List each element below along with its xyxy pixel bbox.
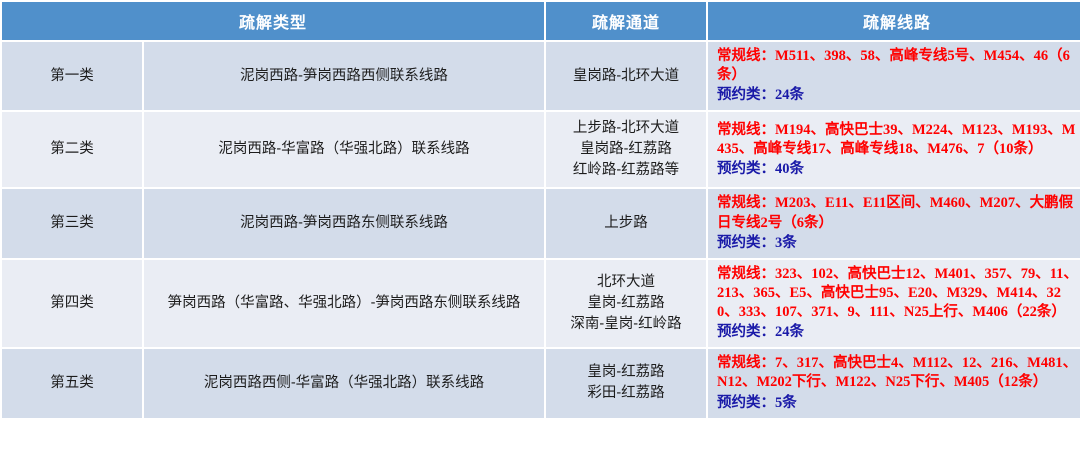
cell-routes: 常规线：7、317、高快巴士4、M112、12、216、M481、N12、M20… xyxy=(708,349,1080,417)
reserve-routes-label: 预约类： xyxy=(717,87,775,103)
regular-routes-line: 常规线：M511、398、58、高峰专线5号、M454、46（6条） xyxy=(717,47,1079,85)
cell-channel: 上步路 xyxy=(546,189,706,257)
channel-line: 皇岗路-红荔路 xyxy=(554,139,698,160)
table-header-row: 疏解类型 疏解通道 疏解线路 xyxy=(2,2,1080,40)
cell-type: 第四类 xyxy=(2,260,142,348)
regular-routes-line: 常规线：M203、E11、E11区间、M460、M207、大鹏假日专线2号（6条… xyxy=(717,194,1079,232)
reserve-routes-label: 预约类： xyxy=(717,161,775,177)
column-header-type: 疏解类型 xyxy=(2,2,544,40)
reserve-routes-value: 24条 xyxy=(775,87,804,103)
column-header-channel: 疏解通道 xyxy=(546,2,706,40)
cell-description: 泥岗西路-笋岗西路东侧联系线路 xyxy=(144,189,544,257)
cell-type: 第五类 xyxy=(2,349,142,417)
cell-type: 第二类 xyxy=(2,112,142,187)
reserve-routes-line: 预约类：3条 xyxy=(717,234,1079,253)
table-row: 第二类泥岗西路-华富路（华强北路）联系线路上步路-北环大道皇岗路-红荔路红岭路-… xyxy=(2,112,1080,187)
reserve-routes-value: 24条 xyxy=(775,324,804,340)
cell-routes: 常规线：323、102、高快巴士12、M401、357、79、11、213、36… xyxy=(708,260,1080,348)
regular-routes-label: 常规线： xyxy=(717,355,775,371)
cell-description: 泥岗西路西侧-华富路（华强北路）联系线路 xyxy=(144,349,544,417)
channel-line: 深南-皇岗-红岭路 xyxy=(554,314,698,335)
reserve-routes-value: 5条 xyxy=(775,395,797,411)
table-body: 第一类泥岗西路-笋岗西路西侧联系线路皇岗路-北环大道常规线：M511、398、5… xyxy=(2,42,1080,418)
reserve-routes-value: 40条 xyxy=(775,161,804,177)
cell-routes: 常规线：M194、高快巴士39、M224、M123、M193、M435、高峰专线… xyxy=(708,112,1080,187)
cell-type: 第一类 xyxy=(2,42,142,110)
channel-line: 上步路 xyxy=(554,213,698,234)
table-row: 第一类泥岗西路-笋岗西路西侧联系线路皇岗路-北环大道常规线：M511、398、5… xyxy=(2,42,1080,110)
reserve-routes-line: 预约类：24条 xyxy=(717,86,1079,105)
table-row: 第三类泥岗西路-笋岗西路东侧联系线路上步路常规线：M203、E11、E11区间、… xyxy=(2,189,1080,257)
reserve-routes-line: 预约类：5条 xyxy=(717,394,1079,413)
regular-routes-label: 常规线： xyxy=(717,48,775,64)
regular-routes-line: 常规线：323、102、高快巴士12、M401、357、79、11、213、36… xyxy=(717,265,1079,322)
cell-description: 泥岗西路-笋岗西路西侧联系线路 xyxy=(144,42,544,110)
cell-channel: 上步路-北环大道皇岗路-红荔路红岭路-红荔路等 xyxy=(546,112,706,187)
regular-routes-line: 常规线：M194、高快巴士39、M224、M123、M193、M435、高峰专线… xyxy=(717,121,1079,159)
cell-description: 泥岗西路-华富路（华强北路）联系线路 xyxy=(144,112,544,187)
channel-line: 皇岗-红荔路 xyxy=(554,362,698,383)
evacuation-routes-table: 疏解类型 疏解通道 疏解线路 第一类泥岗西路-笋岗西路西侧联系线路皇岗路-北环大… xyxy=(0,0,1080,420)
cell-channel: 皇岗-红荔路彩田-红荔路 xyxy=(546,349,706,417)
reserve-routes-line: 预约类：24条 xyxy=(717,323,1079,342)
cell-type: 第三类 xyxy=(2,189,142,257)
table-row: 第四类笋岗西路（华富路、华强北路）-笋岗西路东侧联系线路北环大道皇岗-红荔路深南… xyxy=(2,260,1080,348)
cell-routes: 常规线：M511、398、58、高峰专线5号、M454、46（6条）预约类：24… xyxy=(708,42,1080,110)
reserve-routes-label: 预约类： xyxy=(717,235,775,251)
table-row: 第五类泥岗西路西侧-华富路（华强北路）联系线路皇岗-红荔路彩田-红荔路常规线：7… xyxy=(2,349,1080,417)
channel-line: 皇岗-红荔路 xyxy=(554,293,698,314)
cell-channel: 北环大道皇岗-红荔路深南-皇岗-红岭路 xyxy=(546,260,706,348)
reserve-routes-label: 预约类： xyxy=(717,395,775,411)
column-header-routes: 疏解线路 xyxy=(708,2,1080,40)
reserve-routes-value: 3条 xyxy=(775,235,797,251)
table-header: 疏解类型 疏解通道 疏解线路 xyxy=(2,2,1080,40)
regular-routes-label: 常规线： xyxy=(717,195,775,211)
channel-line: 红岭路-红荔路等 xyxy=(554,160,698,181)
cell-routes: 常规线：M203、E11、E11区间、M460、M207、大鹏假日专线2号（6条… xyxy=(708,189,1080,257)
reserve-routes-label: 预约类： xyxy=(717,324,775,340)
cell-channel: 皇岗路-北环大道 xyxy=(546,42,706,110)
regular-routes-label: 常规线： xyxy=(717,122,775,138)
channel-line: 彩田-红荔路 xyxy=(554,383,698,404)
evacuation-routes-table-container: 疏解类型 疏解通道 疏解线路 第一类泥岗西路-笋岗西路西侧联系线路皇岗路-北环大… xyxy=(0,0,1080,458)
reserve-routes-line: 预约类：40条 xyxy=(717,160,1079,179)
channel-line: 上步路-北环大道 xyxy=(554,118,698,139)
channel-line: 皇岗路-北环大道 xyxy=(554,66,698,87)
cell-description: 笋岗西路（华富路、华强北路）-笋岗西路东侧联系线路 xyxy=(144,260,544,348)
channel-line: 北环大道 xyxy=(554,272,698,293)
regular-routes-line: 常规线：7、317、高快巴士4、M112、12、216、M481、N12、M20… xyxy=(717,354,1079,392)
regular-routes-label: 常规线： xyxy=(717,266,775,282)
